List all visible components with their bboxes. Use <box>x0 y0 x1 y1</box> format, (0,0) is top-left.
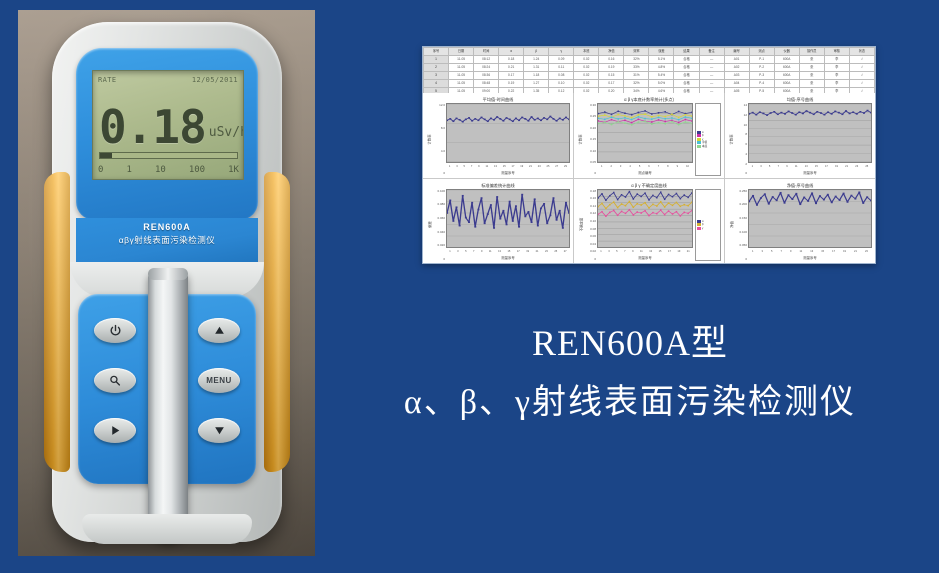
table-cell: 0.10 <box>549 80 574 88</box>
chart-y-tick: 8.0 <box>433 126 445 130</box>
chart-x-tick: 9 <box>790 250 791 253</box>
lcd-screen: RATE 12/05/2011 0.18 uSv/h 0 1 10 100 1K <box>92 70 244 180</box>
menu-button-label: MENU <box>206 376 232 385</box>
table-column-header: 编号 <box>724 48 749 56</box>
chart-legend: αβγ净值本底 <box>695 103 721 176</box>
table-cell: 08:24 <box>474 64 499 72</box>
table-cell: 0.02 <box>574 72 599 80</box>
table-column-header: 误差 <box>649 48 674 56</box>
chart-x-axis-label: 测量序号 <box>446 170 570 176</box>
table-cell: 0.09 <box>549 56 574 64</box>
chart-x-tick: 21 <box>529 165 532 168</box>
chart-y-tick: 0.060 <box>433 216 445 220</box>
table-cell: 0.08 <box>549 72 574 80</box>
chart-y-tick: 0.10 <box>584 149 596 153</box>
chart-y-tick: 14 <box>735 103 747 107</box>
table-column-header: 仪器 <box>774 48 799 56</box>
chart-y-tick: 0.100 <box>433 189 445 193</box>
menu-button[interactable]: MENU <box>198 368 240 393</box>
chart-title: 平均值-时间曲线 <box>426 96 570 103</box>
table-cell: 0.16 <box>599 56 624 64</box>
chart-plot-area <box>446 189 570 249</box>
triangle-right-icon <box>109 424 122 437</box>
chart-x-tick: 1 <box>601 165 602 168</box>
table-cell: 5.4% <box>649 72 674 80</box>
chart-y-axis-label: 计数率 <box>577 103 584 176</box>
chart-plot-wrap: 13579111315171921232527测量序号 <box>446 189 570 262</box>
table-cell: 600A <box>774 72 799 80</box>
chart-legend-swatch <box>697 134 701 137</box>
chart-body: 计数率12.08.04.001357911131517192123252729测… <box>426 103 570 176</box>
chart-x-ticks: 13579111315171921 <box>597 248 693 255</box>
chart-legend-swatch <box>697 145 701 148</box>
power-button[interactable] <box>94 318 136 343</box>
chart-body: 偏差0.1000.0800.0600.0400.0200135791113151… <box>426 189 570 262</box>
grip-right <box>264 172 290 472</box>
chart-x-tick: 5 <box>465 250 466 253</box>
triangle-up-icon <box>213 324 226 337</box>
detector-device: RATE 12/05/2011 0.18 uSv/h 0 1 10 100 1K <box>38 22 296 542</box>
chart-legend-swatch <box>697 223 701 226</box>
device-chinese-label: αβγ射线表面污染检测仪 <box>76 234 258 246</box>
table-cell: — <box>699 56 724 64</box>
magnifier-icon <box>108 374 122 387</box>
table-cell: 11-05 <box>449 64 474 72</box>
chart-plot-wrap: 13579111315171921测量序号 <box>597 189 693 262</box>
table-column-header: 序号 <box>424 48 449 56</box>
chart-x-tick: 11 <box>489 250 492 253</box>
lcd-reading: 0.18 uSv/h <box>99 91 239 149</box>
table-cell: 张 <box>799 64 824 72</box>
table-row[interactable]: 311-0508:360.171.180.080.020.1531%5.4%合格… <box>424 72 875 80</box>
chart-x-tick: 5 <box>639 165 640 168</box>
chart-x-tick: 5 <box>769 165 770 168</box>
chart-x-tick: 1 <box>752 250 753 253</box>
chart-x-axis-label: 测量序号 <box>446 255 570 261</box>
chart-y-axis-label: 不确定度 <box>577 189 584 262</box>
table-row[interactable]: 111-0508:120.181.240.090.020.1632%5.1%合格… <box>424 56 875 64</box>
title-block: REN600A型 α、β、γ射线表面污染检测仪 <box>330 320 930 430</box>
table-cell: P-1 <box>749 56 774 64</box>
chart-x-tick: 1 <box>449 165 450 168</box>
chart-plot-area <box>748 189 872 249</box>
chart-y-tick: 0.080 <box>433 202 445 206</box>
chart-x-tick: 19 <box>835 165 838 168</box>
chart-cell[interactable]: 平均值-时间曲线计数率12.08.04.00135791113151719212… <box>423 93 573 178</box>
lcd-scale-tick: 10 <box>155 165 166 175</box>
chart-y-tick: 2 <box>735 162 747 166</box>
chart-body: 计数率14121086420135791113151719212325测量序号 <box>728 103 872 176</box>
chart-y-tick: 0.04 <box>584 242 596 246</box>
chart-y-tick: 0.14 <box>584 204 596 208</box>
chart-x-tick: 7 <box>781 250 782 253</box>
chart-x-tick: 13 <box>810 250 813 253</box>
table-column-header: 本底 <box>574 48 599 56</box>
chart-plot-wrap: 135791113151719212325测量序号 <box>748 103 872 176</box>
table-column-header: α <box>499 48 524 56</box>
chart-x-tick: 23 <box>545 250 548 253</box>
product-photo: RATE 12/05/2011 0.18 uSv/h 0 1 10 100 1K <box>18 10 315 556</box>
chart-y-tick: 10 <box>735 123 747 127</box>
chart-y-tick: 0.16 <box>584 196 596 200</box>
table-cell: 张 <box>799 56 824 64</box>
chart-x-tick: 9 <box>677 165 678 168</box>
table-cell: P-3 <box>749 72 774 80</box>
chart-y-tick: 12.0 <box>433 103 445 107</box>
chart-cell[interactable]: 标准偏差统计曲线偏差0.1000.0800.0600.0400.02001357… <box>423 179 573 264</box>
chart-x-tick: 21 <box>536 250 539 253</box>
search-button[interactable] <box>94 368 136 393</box>
chart-plot-area <box>748 103 872 163</box>
table-column-header: 效率 <box>624 48 649 56</box>
chart-x-tick: 1 <box>449 250 450 253</box>
chart-x-tick: 25 <box>547 165 550 168</box>
chart-x-axis-label: 测点编号 <box>597 170 693 176</box>
chart-x-tick: 7 <box>471 165 472 168</box>
table-cell: 张 <box>799 72 824 80</box>
chart-y-tick: 6 <box>735 142 747 146</box>
chart-y-tick: 0.05 <box>584 160 596 164</box>
lcd-status-left: RATE <box>98 76 116 84</box>
table-cell: 08:36 <box>474 72 499 80</box>
table-cell: — <box>699 72 724 80</box>
table-cell: 4 <box>424 80 449 88</box>
chart-x-tick: 17 <box>517 250 520 253</box>
chart-x-tick: 3 <box>762 250 763 253</box>
chart-y-tick: 0.30 <box>584 103 596 107</box>
table-cell: — <box>699 64 724 72</box>
device-label-band: REN600A αβγ射线表面污染检测仪 <box>76 218 258 264</box>
table-cell: 0.17 <box>499 72 524 80</box>
chart-x-tick: 9 <box>481 250 482 253</box>
table-cell: 600A <box>774 56 799 64</box>
lcd-scale-tick: 100 <box>189 165 205 175</box>
chart-cell[interactable]: 净值-序号曲线净值0.2500.2000.1500.1000.050013579… <box>725 179 875 264</box>
software-report-panel: 序号日期时间αβγ本底净值效率误差结果备注编号测点仪器操作员审核状态 111-0… <box>422 46 876 264</box>
table-cell: 11-05 <box>449 72 474 80</box>
table-cell: A02 <box>724 64 749 72</box>
chart-legend-swatch <box>697 138 701 141</box>
table-column-header: 测点 <box>749 48 774 56</box>
table-column-header: 审核 <box>824 48 849 56</box>
chart-y-axis-label: 净值 <box>728 189 735 262</box>
table-cell: 0.02 <box>574 64 599 72</box>
chart-x-tick: 15 <box>507 250 510 253</box>
chart-x-tick: 15 <box>503 165 506 168</box>
table-cell: 0.19 <box>599 64 624 72</box>
chart-y-tick: 0.150 <box>735 216 747 220</box>
chart-x-ticks: 135791113151719212325 <box>748 163 872 170</box>
table-cell: 1.27 <box>524 80 549 88</box>
chart-y-tick: 0 <box>584 171 596 175</box>
table-cell: 李 <box>824 56 849 64</box>
chart-x-tick: 21 <box>687 250 690 253</box>
chart-title: α β γ 不确定度曲线 <box>577 182 721 189</box>
chart-x-axis-label: 测量序号 <box>748 255 872 261</box>
table-column-header: 状态 <box>849 48 874 56</box>
chart-title: 标准偏差统计曲线 <box>426 182 570 189</box>
device-handle <box>148 272 188 542</box>
table-cell: 32% <box>624 80 649 88</box>
table-cell: 11-05 <box>449 56 474 64</box>
table-cell: A03 <box>724 72 749 80</box>
lcd-scale-tick: 1 <box>126 165 131 175</box>
device-model-label: REN600A <box>76 222 258 232</box>
chart-x-tick: 17 <box>668 250 671 253</box>
lcd-status-right: 12/05/2011 <box>192 76 238 84</box>
chart-x-tick: 8 <box>667 165 668 168</box>
chart-x-ticks: 1357911131517192123252729 <box>446 163 570 170</box>
chart-plot-wrap: 12345678910测点编号 <box>597 103 693 176</box>
chart-y-tick: 0 <box>584 257 596 261</box>
chart-x-tick: 3 <box>456 165 457 168</box>
chart-x-tick: 19 <box>520 165 523 168</box>
chart-x-tick: 1 <box>752 165 753 168</box>
chart-x-tick: 6 <box>648 165 649 168</box>
table-cell: 0.17 <box>599 80 624 88</box>
chart-x-tick: 13 <box>805 165 808 168</box>
table-cell: 3 <box>424 72 449 80</box>
chart-x-axis-label: 测量序号 <box>597 255 693 261</box>
chart-x-tick: 5 <box>464 165 465 168</box>
chart-y-tick: 0.10 <box>584 219 596 223</box>
play-button[interactable] <box>94 418 136 443</box>
chart-plot-area <box>597 189 693 249</box>
chart-x-tick: 21 <box>845 165 848 168</box>
table-cell: 1.24 <box>524 56 549 64</box>
chart-x-tick: 23 <box>865 250 868 253</box>
chart-plot-wrap: 1357911131517192123252729测量序号 <box>446 103 570 176</box>
grip-left <box>44 172 70 472</box>
chart-y-tick: 0 <box>735 171 747 175</box>
chart-x-tick: 10 <box>686 165 689 168</box>
table-body: 111-0508:120.181.240.090.020.1632%5.1%合格… <box>424 56 875 96</box>
chart-x-tick: 3 <box>620 165 621 168</box>
lcd-value: 0.18 <box>99 105 206 149</box>
table-row[interactable]: 211-0508:240.211.310.110.020.1933%4.8%合格… <box>424 64 875 72</box>
table-cell: 31% <box>624 72 649 80</box>
table-cell: √ <box>849 56 874 64</box>
chart-plot-area <box>597 103 693 163</box>
chart-y-tick: 0.08 <box>584 227 596 231</box>
table-cell: √ <box>849 80 874 88</box>
chart-x-axis-label: 测量序号 <box>748 170 872 176</box>
table-cell: — <box>699 80 724 88</box>
device-base <box>82 514 252 544</box>
table-cell: 600A <box>774 80 799 88</box>
upper-faceplate: RATE 12/05/2011 0.18 uSv/h 0 1 10 100 1K <box>76 48 258 220</box>
lcd-scale: 0 1 10 100 1K <box>98 163 239 177</box>
chart-legend-swatch <box>697 141 701 144</box>
table-cell: √ <box>849 72 874 80</box>
table-column-header: 结果 <box>674 48 699 56</box>
chart-y-tick: 0.15 <box>584 137 596 141</box>
data-table: 序号日期时间αβγ本底净值效率误差结果备注编号测点仪器操作员审核状态 111-0… <box>423 47 875 96</box>
product-model-title: REN600A型 <box>330 320 930 366</box>
chart-x-tick: 4 <box>629 165 630 168</box>
chart-y-tick: 0.06 <box>584 234 596 238</box>
chart-title: α β γ本底计数率统计(多点) <box>577 96 721 103</box>
chart-legend-item: 本底 <box>697 145 719 148</box>
chart-y-tick: 8 <box>735 132 747 136</box>
chart-y-tick: 4.0 <box>433 149 445 153</box>
chart-x-tick: 3 <box>608 250 609 253</box>
chart-x-tick: 19 <box>526 250 529 253</box>
table-column-header: 净值 <box>599 48 624 56</box>
table-cell: 08:48 <box>474 80 499 88</box>
table-cell: 合格 <box>674 72 699 80</box>
table-cell: A04 <box>724 80 749 88</box>
lcd-unit: uSv/h <box>209 125 244 140</box>
chart-x-tick: 19 <box>843 250 846 253</box>
chart-y-tick: 4 <box>735 152 747 156</box>
table-column-header: 操作员 <box>799 48 824 56</box>
chart-x-tick: 9 <box>632 250 633 253</box>
chart-cell[interactable]: α β γ本底计数率统计(多点)计数率0.300.250.200.150.100… <box>574 93 724 178</box>
table-cell: 5.0% <box>649 80 674 88</box>
charts-grid: 平均值-时间曲线计数率12.08.04.00135791113151719212… <box>423 93 875 263</box>
table-cell: 0.19 <box>499 80 524 88</box>
chart-y-ticks: 14121086420 <box>735 103 748 176</box>
chart-y-tick: 0 <box>433 171 445 175</box>
table-cell: 李 <box>824 72 849 80</box>
chart-x-ticks: 12345678910 <box>597 163 693 170</box>
chart-y-tick: 0.02 <box>584 249 596 253</box>
chart-legend-label: γ <box>702 227 703 230</box>
chart-cell[interactable]: α β γ 不确定度曲线不确定度0.180.160.140.120.100.08… <box>574 179 724 264</box>
chart-y-tick: 0 <box>433 257 445 261</box>
chart-x-tick: 21 <box>854 250 857 253</box>
table-cell: 合格 <box>674 64 699 72</box>
table-cell: 合格 <box>674 80 699 88</box>
chart-y-tick: 0 <box>735 257 747 261</box>
chart-x-tick: 23 <box>855 165 858 168</box>
chart-x-tick: 27 <box>564 250 567 253</box>
down-button[interactable] <box>198 418 240 443</box>
table-cell: 0.11 <box>549 64 574 72</box>
chart-y-axis-label: 偏差 <box>426 189 433 262</box>
chart-x-tick: 7 <box>624 250 625 253</box>
chart-x-tick: 9 <box>786 165 787 168</box>
table-cell: 1 <box>424 56 449 64</box>
table-column-header: 日期 <box>449 48 474 56</box>
table-cell: A01 <box>724 56 749 64</box>
chart-x-tick: 7 <box>778 165 779 168</box>
lcd-bargraph <box>99 152 238 159</box>
table-column-header: γ <box>549 48 574 56</box>
chart-y-tick: 0.100 <box>735 230 747 234</box>
product-description-title: α、β、γ射线表面污染检测仪 <box>330 376 930 430</box>
table-cell: 08:12 <box>474 56 499 64</box>
chart-x-tick: 15 <box>815 165 818 168</box>
chart-y-tick: 0.250 <box>735 189 747 193</box>
chart-x-tick: 17 <box>825 165 828 168</box>
table-cell: 李 <box>824 64 849 72</box>
chart-y-ticks: 0.180.160.140.120.100.080.060.040.020 <box>584 189 597 262</box>
chart-cell[interactable]: 均值-序号曲线计数率141210864201357911131517192123… <box>725 93 875 178</box>
chart-legend-swatch <box>697 220 701 223</box>
chart-legend-swatch <box>697 131 701 134</box>
chart-x-tick: 7 <box>473 250 474 253</box>
table-cell: P-4 <box>749 80 774 88</box>
chart-x-tick: 15 <box>821 250 824 253</box>
table-cell: 合格 <box>674 56 699 64</box>
chart-x-tick: 9 <box>478 165 479 168</box>
chart-y-ticks: 12.08.04.00 <box>433 103 446 176</box>
chart-x-tick: 3 <box>760 165 761 168</box>
table-cell: 600A <box>774 64 799 72</box>
chart-x-tick: 17 <box>832 250 835 253</box>
chart-y-tick: 0.18 <box>584 189 596 193</box>
table-cell: 0.21 <box>499 64 524 72</box>
table-cell: 33% <box>624 64 649 72</box>
chart-plot-wrap: 1357911131517192123测量序号 <box>748 189 872 262</box>
chart-y-tick: 0.12 <box>584 211 596 215</box>
table-column-header: β <box>524 48 549 56</box>
chart-y-ticks: 0.1000.0800.0600.0400.0200 <box>433 189 446 262</box>
chart-x-tick: 13 <box>494 165 497 168</box>
chart-title: 均值-序号曲线 <box>728 96 872 103</box>
chart-y-tick: 0.040 <box>433 230 445 234</box>
lcd-statusbar: RATE 12/05/2011 <box>98 74 238 86</box>
table-cell: P-2 <box>749 64 774 72</box>
chart-x-tick: 25 <box>865 165 868 168</box>
chart-x-tick: 11 <box>485 165 488 168</box>
chart-title: 净值-序号曲线 <box>728 182 872 189</box>
chart-x-tick: 5 <box>616 250 617 253</box>
chart-body: 计数率0.300.250.200.150.100.05012345678910测… <box>577 103 721 176</box>
up-button[interactable] <box>198 318 240 343</box>
table-cell: 1.18 <box>524 72 549 80</box>
chart-x-tick: 15 <box>659 250 662 253</box>
chart-y-axis-label: 计数率 <box>426 103 433 176</box>
table-header: 序号日期时间αβγ本底净值效率误差结果备注编号测点仪器操作员审核状态 <box>424 48 875 56</box>
chart-x-tick: 19 <box>677 250 680 253</box>
table-cell: 0.15 <box>599 72 624 80</box>
chart-plot-area <box>446 103 570 163</box>
chart-x-tick: 1 <box>600 250 601 253</box>
table-header-row: 序号日期时间αβγ本底净值效率误差结果备注编号测点仪器操作员审核状态 <box>424 48 875 56</box>
chart-x-tick: 29 <box>564 165 567 168</box>
chart-y-ticks: 0.300.250.200.150.100.050 <box>584 103 597 176</box>
table-cell: 0.02 <box>574 80 599 88</box>
table-cell: 5.1% <box>649 56 674 64</box>
table-row[interactable]: 411-0508:480.191.270.100.020.1732%5.0%合格… <box>424 80 875 88</box>
chart-x-tick: 11 <box>640 250 643 253</box>
chart-y-tick: 0.20 <box>584 126 596 130</box>
chart-x-tick: 3 <box>457 250 458 253</box>
chart-legend-swatch <box>697 227 701 230</box>
table-cell: √ <box>849 64 874 72</box>
power-icon <box>109 324 122 337</box>
lcd-scale-tick: 0 <box>98 165 103 175</box>
chart-y-tick: 0.020 <box>433 243 445 247</box>
chart-x-tick: 27 <box>555 165 558 168</box>
chart-x-tick: 11 <box>800 250 803 253</box>
table-cell: 李 <box>824 80 849 88</box>
chart-y-tick: 0.25 <box>584 114 596 118</box>
table-cell: 11-05 <box>449 80 474 88</box>
slide-background: RATE 12/05/2011 0.18 uSv/h 0 1 10 100 1K <box>0 0 939 573</box>
chart-y-tick: 12 <box>735 113 747 117</box>
chart-x-tick: 13 <box>498 250 501 253</box>
table-cell: 2 <box>424 64 449 72</box>
chart-x-tick: 5 <box>771 250 772 253</box>
chart-x-tick: 7 <box>658 165 659 168</box>
table-cell: 0.02 <box>574 56 599 64</box>
table-column-header: 备注 <box>699 48 724 56</box>
chart-y-tick: 0.200 <box>735 202 747 206</box>
